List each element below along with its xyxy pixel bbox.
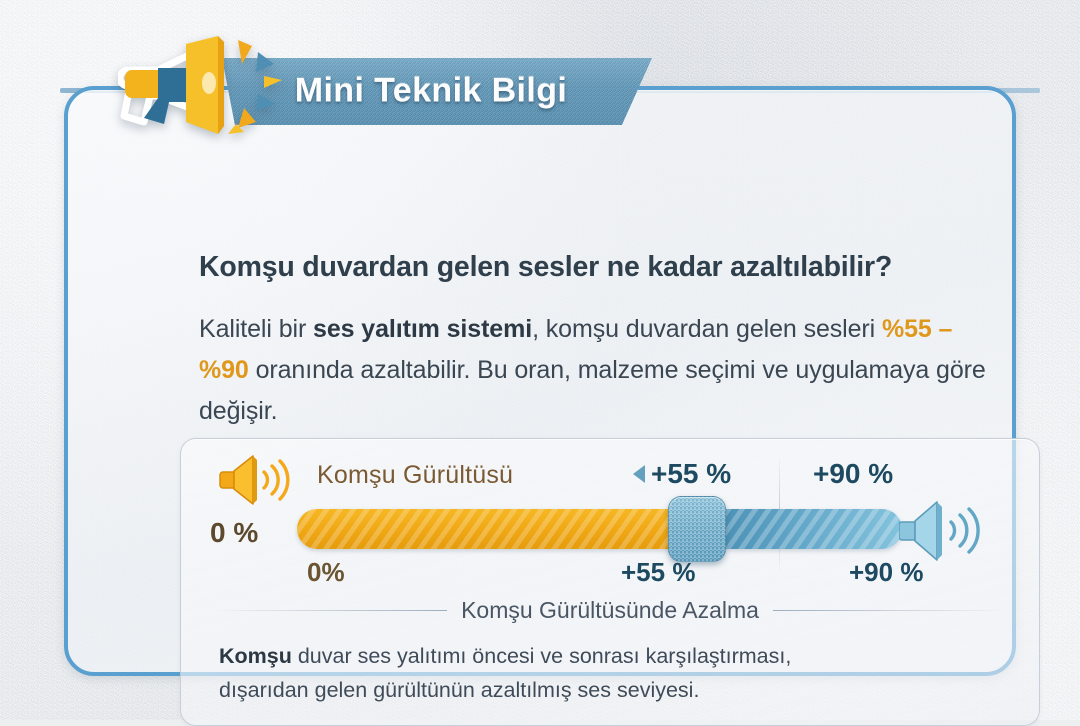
slider-handle[interactable]: [668, 496, 726, 562]
value-90-bottom: +90 %: [849, 557, 923, 588]
slider-panel: Komşu Gürültüsü +55 % +90 % 0 % 0% +55 %…: [180, 438, 1040, 726]
caption-row: Komşu Gürültüsünde Azalma: [211, 597, 1009, 624]
caption-rule-right: [773, 610, 1009, 612]
noise-label: Komşu Gürültüsü: [317, 461, 513, 490]
paragraph-part-3: oranında azaltabilir. Bu oran, malzeme s…: [199, 356, 986, 425]
body-paragraph: Kaliteli bir ses yalıtım sistemi, komşu …: [199, 309, 989, 432]
value-0-bottom: 0%: [307, 557, 345, 588]
value-55-top-text: +55 %: [651, 458, 731, 490]
arrow-left-icon: [633, 465, 645, 483]
value-55-bottom: +55 %: [621, 557, 695, 588]
track-segment-before: [297, 509, 672, 549]
info-card: Komşu duvardan gelen sesler ne kadar aza…: [64, 86, 1016, 676]
caption-rule-left: [211, 610, 447, 612]
caption-text: Komşu Gürültüsünde Azalma: [461, 597, 759, 624]
paragraph-bold-term: ses yalıtım sistemi: [313, 315, 532, 343]
footer-text: Komşu duvar ses yalıtımı öncesi ve sonra…: [219, 639, 989, 707]
footer-bold-term: Komşu: [219, 644, 292, 668]
value-0-left: 0 %: [210, 517, 258, 549]
speaker-blue-icon: [899, 497, 987, 563]
paragraph-part-2: , komşu duvardan gelen sesleri: [532, 315, 882, 343]
noise-slider-track[interactable]: [297, 509, 902, 549]
megaphone-icon: [118, 28, 288, 146]
footer-rest-line-1: duvar ses yalıtımı öncesi ve sonrası kar…: [292, 644, 791, 668]
footer-line-2: dışarıdan gelen gürültünün azaltılmış se…: [219, 678, 699, 702]
value-55-top: +55 %: [633, 458, 731, 490]
value-90-top: +90 %: [813, 458, 893, 490]
page-title: Komşu duvardan gelen sesler ne kadar aza…: [199, 251, 999, 284]
paragraph-part-1: Kaliteli bir: [199, 315, 313, 343]
speaker-orange-icon: [217, 451, 293, 509]
